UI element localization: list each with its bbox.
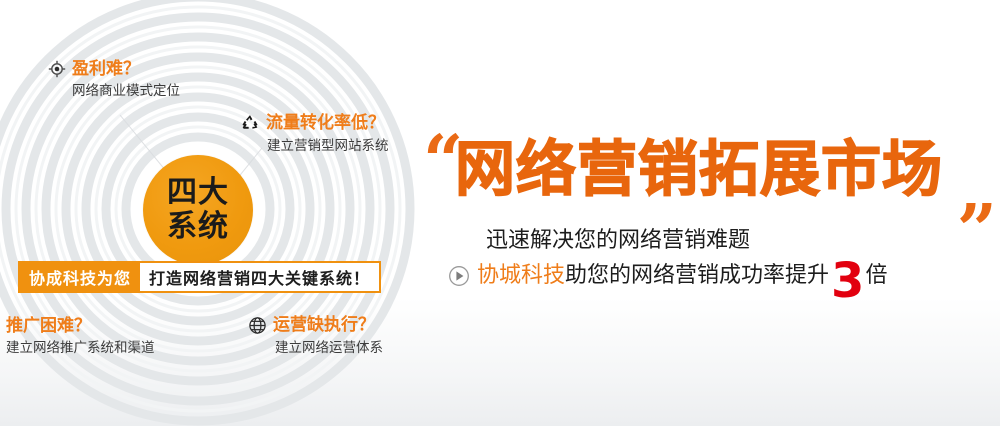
feature-title-row: 运营缺执行？ bbox=[248, 316, 383, 335]
promo-subline-1: 迅速解决您的网络营销难题 bbox=[486, 230, 750, 252]
hub-line-2: 系统 bbox=[167, 212, 229, 242]
banner-stage: 四大 系统 盈利难？ 网络商业模式定位 bbox=[0, 0, 1000, 426]
quote-close-icon: „ bbox=[958, 155, 998, 225]
globe-icon bbox=[248, 316, 267, 335]
feature-title: 运营缺执行？ bbox=[273, 317, 375, 334]
target-icon bbox=[48, 60, 66, 78]
feature-subtitle: 建立营销型网站系统 bbox=[267, 140, 389, 154]
promo-headline: 网络营销拓展市场 bbox=[455, 140, 943, 200]
promo-brand: 协城科技 bbox=[477, 265, 565, 287]
recycle-icon bbox=[240, 113, 260, 133]
hub-circle: 四大 系统 bbox=[143, 155, 253, 265]
feature-subtitle: 建立网络运营体系 bbox=[275, 342, 383, 356]
feature-title-row: 流量转化率低？ bbox=[240, 113, 389, 133]
feature-subtitle: 建立网络推广系统和渠道 bbox=[6, 342, 155, 356]
promo-subline-2: 协城科技 助您的网络营销成功率提升 3 倍 bbox=[448, 262, 887, 291]
hub-line-1: 四大 bbox=[167, 178, 229, 208]
feature-title: 推广困难？ bbox=[6, 318, 91, 335]
feature-item-operations[interactable]: 运营缺执行？ 建立网络运营体系 bbox=[248, 316, 383, 356]
feature-subtitle: 网络商业模式定位 bbox=[72, 85, 180, 99]
feature-item-profit[interactable]: 盈利难？ 网络商业模式定位 bbox=[48, 60, 180, 99]
feature-title-row: 盈利难？ bbox=[48, 60, 180, 78]
play-circle-icon bbox=[448, 265, 470, 287]
tagline-banner-right: 打造网络营销四大关键系统！ bbox=[140, 263, 379, 291]
tagline-banner: 协成科技为您 打造网络营销四大关键系统！ bbox=[18, 261, 381, 293]
promo-multiplier-unit: 倍 bbox=[865, 265, 887, 287]
tagline-banner-left: 协成科技为您 bbox=[20, 263, 140, 291]
promo-block: “ 网络营销拓展市场 „ 迅速解决您的网络营销难题 协城科技 助您的网络营销成功… bbox=[420, 0, 1000, 426]
feature-title: 盈利难？ bbox=[72, 61, 140, 78]
promo-subline-2-mid: 助您的网络营销成功率提升 bbox=[565, 265, 829, 287]
promo-multiplier: 3 bbox=[831, 267, 864, 296]
feature-item-conversion[interactable]: 流量转化率低？ 建立营销型网站系统 bbox=[240, 113, 389, 154]
feature-item-promotion[interactable]: 推广困难？ 建立网络推广系统和渠道 bbox=[6, 318, 155, 356]
feature-title: 流量转化率低？ bbox=[266, 115, 385, 132]
hub-label: 四大 系统 bbox=[143, 155, 253, 265]
feature-title-row: 推广困难？ bbox=[6, 318, 155, 335]
